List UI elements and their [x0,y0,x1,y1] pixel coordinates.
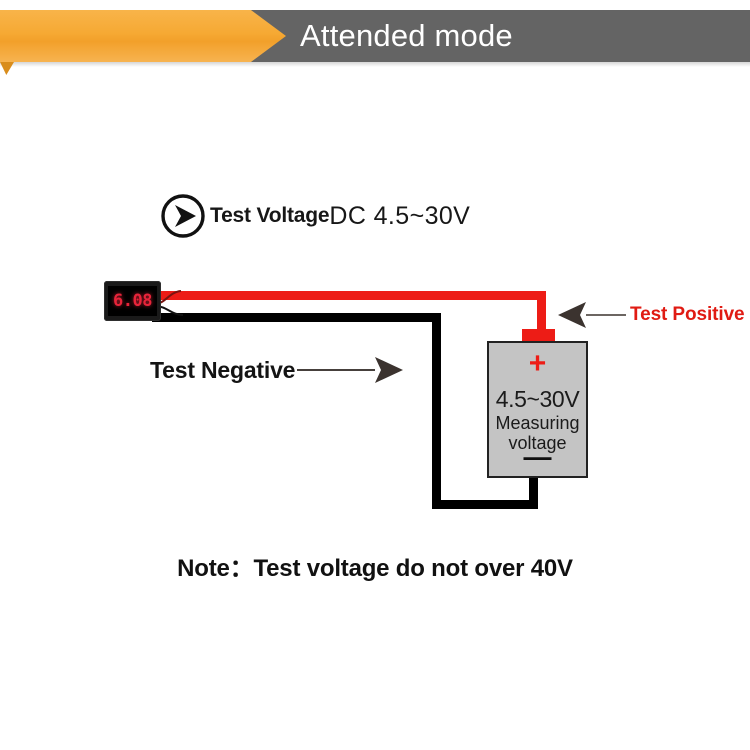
positive-wire-vertical [537,291,546,333]
test-positive-label: Test Positive [630,304,745,326]
test-voltage-value: DC 4.5~30V [329,202,470,231]
arrow-right-icon [297,353,405,387]
test-negative-label: Test Negative [150,357,295,384]
test-negative-annotation: Test Negative [150,351,405,389]
battery-minus-symbol: — [489,446,586,468]
note-text: Note：Test voltage do not over 40V [0,548,750,583]
voltmeter-display: 6.08 [108,286,157,316]
test-voltage-row: Test Voltage DC 4.5~30V [160,193,470,239]
battery-voltage-range-label: 4.5~30V [489,387,586,411]
header-orange-arrow-shape [0,10,286,62]
test-positive-annotation: Test Positive [556,296,745,334]
arrow-left-icon [556,298,628,332]
battery-negative-lead [529,476,538,506]
negative-wire-horizontal-bottom [432,500,537,509]
play-circle-icon [160,193,206,239]
header-orange-ribbon-tail [0,62,14,75]
battery-caption-line-1: Measuring [489,413,586,433]
test-voltage-label: Test Voltage [210,204,329,228]
header-bar-shadow [0,62,750,67]
page-title: Attended mode [300,14,513,58]
negative-wire-vertical-left [432,313,441,509]
battery-plus-symbol: + [489,349,586,379]
voltmeter-reading: 6.08 [113,293,152,310]
measuring-voltage-source: + 4.5~30V Measuring voltage — [487,341,588,478]
header-banner: Attended mode [0,0,750,80]
meter-lead-wires [155,282,225,327]
voltmeter-module: 6.08 [104,281,161,321]
